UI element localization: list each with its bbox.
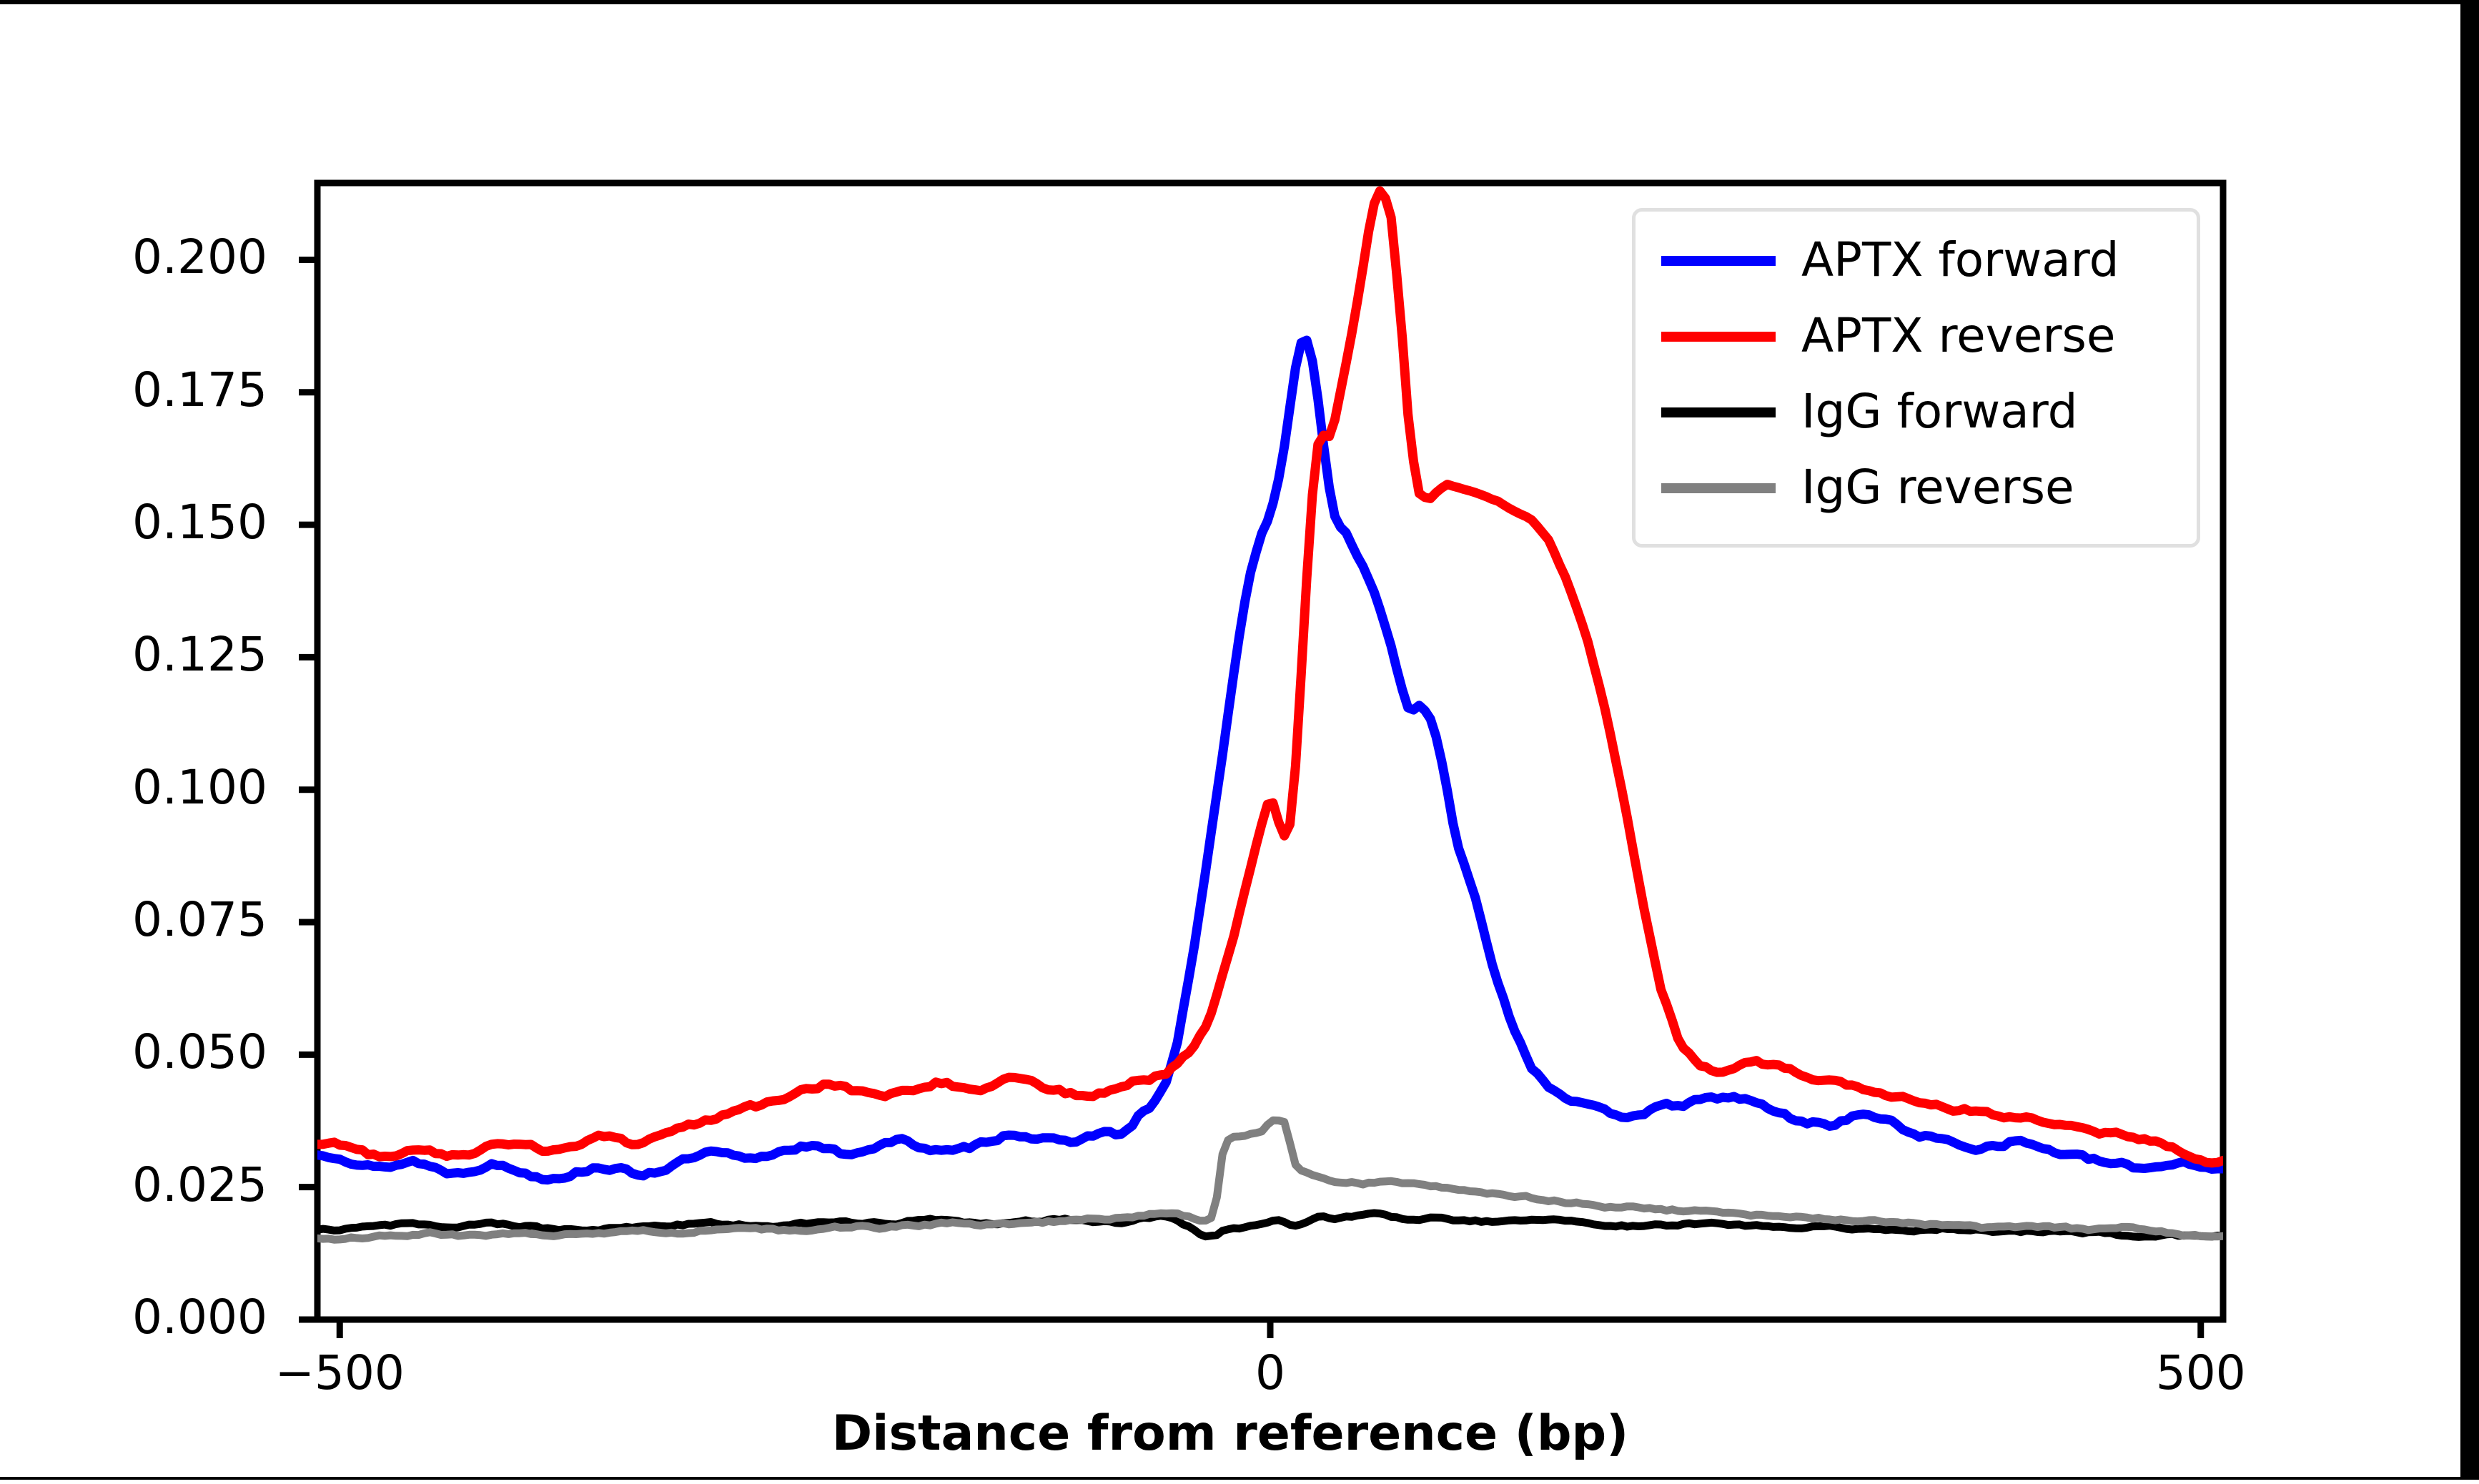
chart-legend[interactable]: APTX forwardAPTX reverseIgG forwardIgG r… <box>1632 208 2200 548</box>
legend-item-igg-reverse[interactable]: IgG reverse <box>1651 452 2187 523</box>
legend-label: APTX reverse <box>1801 300 2116 372</box>
x-tick-label: 0 <box>1127 1350 1413 1397</box>
legend-swatch-igg-forward <box>1661 407 1776 417</box>
legend-item-igg-forward[interactable]: IgG forward <box>1651 376 2187 447</box>
figure-canvas: 0.0000.0250.0500.0750.1000.1250.1500.175… <box>0 0 2479 1480</box>
x-tick-label: 500 <box>2058 1350 2344 1397</box>
x-axis-title: Distance from reference (bp) <box>0 1405 2460 1462</box>
y-tick-label: 0.000 <box>132 1294 267 1341</box>
y-tick-label: 0.050 <box>132 1029 267 1076</box>
legend-item-aptx-reverse[interactable]: APTX reverse <box>1651 300 2187 372</box>
y-tick-label: 0.150 <box>132 499 267 546</box>
legend-swatch-aptx-forward <box>1661 256 1776 266</box>
legend-label: IgG reverse <box>1801 452 2074 523</box>
legend-label: IgG forward <box>1801 376 2078 447</box>
x-tick-label: −500 <box>197 1350 483 1397</box>
legend-label: APTX forward <box>1801 224 2119 296</box>
y-tick-label: 0.075 <box>132 896 267 944</box>
legend-item-aptx-forward[interactable]: APTX forward <box>1651 224 2187 296</box>
y-tick-label: 0.200 <box>132 234 267 281</box>
y-tick-label: 0.025 <box>132 1162 267 1209</box>
y-tick-label: 0.100 <box>132 764 267 811</box>
y-tick-label: 0.125 <box>132 631 267 678</box>
legend-swatch-aptx-reverse <box>1661 332 1776 342</box>
y-tick-label: 0.175 <box>132 367 267 414</box>
legend-swatch-igg-reverse <box>1661 483 1776 493</box>
